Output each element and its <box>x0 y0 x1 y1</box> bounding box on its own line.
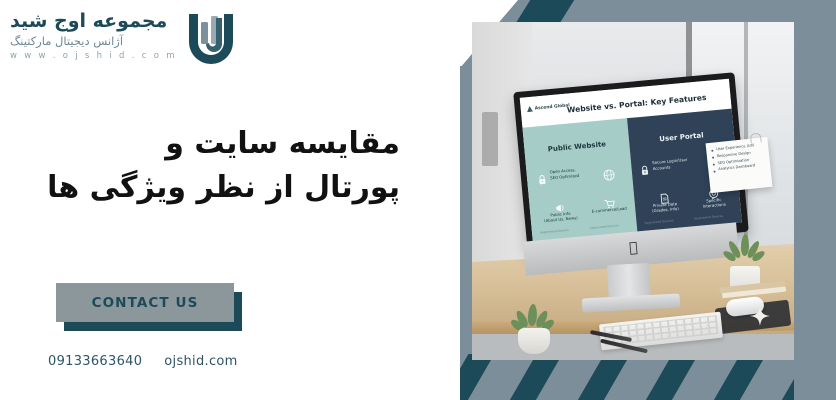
feature-open-access-label: Open Access, SEO Optimized <box>549 167 579 180</box>
footnote-portal-2: Segmented Devices <box>694 214 723 221</box>
footer-website[interactable]: ojshid.com <box>164 354 237 369</box>
footnote-public-2: Segmented Devices <box>590 223 619 230</box>
brand-lockup[interactable]: مجموعه اوج شید آژانس دیجیتال مارکتینگ w … <box>10 8 237 66</box>
footnote-portal-1: Segmented Devices <box>644 218 673 225</box>
shopping-cart-icon <box>603 194 614 206</box>
brand-text-block: مجموعه اوج شید آژانس دیجیتال مارکتینگ w … <box>10 12 177 63</box>
ojshid-u-logo-icon <box>185 8 237 66</box>
column-public-website: Public Website <box>522 118 637 241</box>
sparkle-icon <box>750 306 770 326</box>
megaphone-icon <box>554 198 565 210</box>
right-edge-band <box>794 0 836 400</box>
feature-open-access: Open Access, SEO Optimized <box>536 167 579 182</box>
screen-brand-label: Ascend Global <box>535 103 570 111</box>
left-content-panel: مجموعه اوج شید آژانس دیجیتال مارکتینگ w … <box>0 0 460 400</box>
headline-line-2: پورتال از نظر ویژگی ها <box>50 166 400 210</box>
footer-phone[interactable]: 09133663640 <box>48 354 142 369</box>
sticky-note: User Experience (UX) Responsive Design S… <box>706 137 773 193</box>
column-heading-public: Public Website <box>524 138 629 155</box>
feature-secure-login: Secure Login/User Accounts <box>639 157 688 172</box>
contact-cta-wrapper: CONTACT US <box>56 283 256 331</box>
ascend-logo-icon <box>527 106 534 113</box>
page-title: مقایسه سایت و پورتال از نظر ویژگی ها <box>50 122 400 209</box>
brand-subtitle: آژانس دیجیتال مارکتینگ <box>10 36 123 48</box>
desk-with-imac-photo: Ascend Global Website vs. Portal: Key Fe… <box>472 22 794 360</box>
footnote-public-1: Segmented Devices <box>540 228 569 235</box>
lock-icon <box>639 160 650 172</box>
contact-us-button[interactable]: CONTACT US <box>56 283 234 322</box>
lock-icon <box>536 170 547 182</box>
apple-logo-icon:  <box>627 242 639 256</box>
imac-computer: Ascend Global Website vs. Portal: Key Fe… <box>520 82 742 302</box>
headline-line-1: مقایسه سایت و <box>50 122 400 166</box>
feature-private-data: Private Data (Grades, Info) <box>642 187 688 214</box>
screen-brand: Ascend Global <box>527 102 571 112</box>
promo-banner: مجموعه اوج شید آژانس دیجیتال مارکتینگ w … <box>0 0 836 400</box>
brand-title: مجموعه اوج شید <box>10 12 167 31</box>
feature-public-info: Public Info (About Us, News) <box>537 197 583 224</box>
sticky-note-list: User Experience (UX) Responsive Design S… <box>711 141 768 174</box>
brand-url: w w w . o j s h i d . c o m <box>10 52 177 61</box>
bottom-diagonal-stripes <box>460 354 836 400</box>
right-visual-panel: Ascend Global Website vs. Portal: Key Fe… <box>460 0 836 400</box>
document-icon <box>659 189 670 201</box>
feature-secure-login-label: Secure Login/User Accounts <box>652 157 688 171</box>
globe-icon <box>602 166 613 178</box>
feature-ecommerce: E-commerce/Lead <box>585 192 632 214</box>
wall-panel-detail <box>482 112 498 166</box>
footer-contact-row: 09133663640 ojshid.com <box>48 354 238 369</box>
potted-plant-left <box>512 302 556 354</box>
